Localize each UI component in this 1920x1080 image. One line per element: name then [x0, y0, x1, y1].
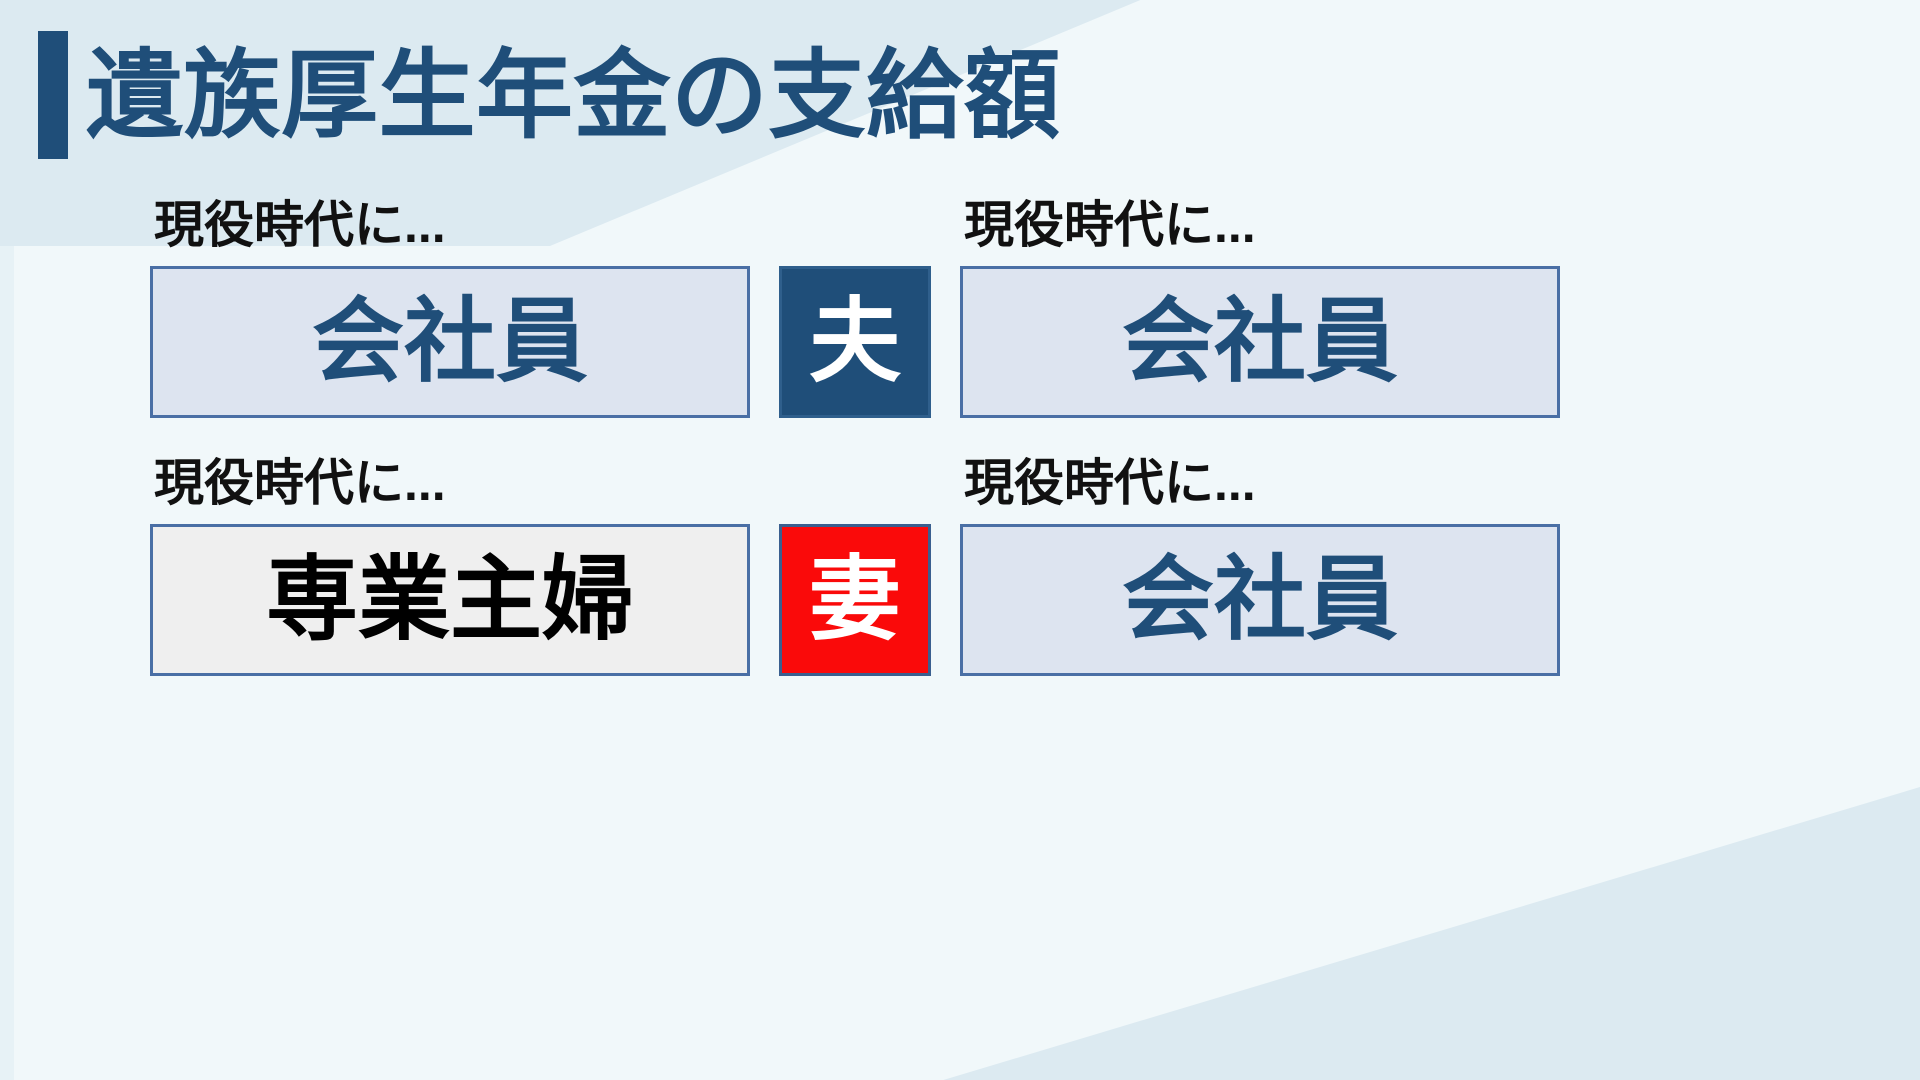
wife-badge[interactable]: 妻	[779, 524, 931, 676]
husband-left-status-box[interactable]: 会社員	[150, 266, 750, 418]
husband-right-status-text: 会社員	[1122, 296, 1398, 388]
husband-badge-label: 夫	[809, 296, 901, 388]
wife-right-status-text: 会社員	[1122, 554, 1398, 646]
slide-title-row: 遺族厚生年金の支給額	[38, 30, 1061, 160]
matrix-row-wife: 現役時代に... 専業主婦 妻 現役時代に... 会社員	[150, 458, 1650, 676]
wife-left-status-text: 専業主婦	[266, 554, 634, 646]
wife-right-column: 現役時代に... 会社員	[960, 458, 1560, 676]
husband-left-status-text: 会社員	[312, 296, 588, 388]
husband-right-column: 現役時代に... 会社員	[960, 200, 1560, 418]
wife-right-label: 現役時代に...	[960, 458, 1560, 508]
wife-left-label: 現役時代に...	[150, 458, 750, 508]
title-accent-bar	[38, 31, 68, 159]
matrix-row-husband: 現役時代に... 会社員 夫 現役時代に... 会社員	[150, 200, 1650, 418]
husband-right-label: 現役時代に...	[960, 200, 1560, 250]
husband-left-label: 現役時代に...	[150, 200, 750, 250]
page-title: 遺族厚生年金の支給額	[86, 47, 1061, 144]
husband-right-status-box[interactable]: 会社員	[960, 266, 1560, 418]
wife-badge-slot: 妻	[750, 524, 960, 676]
comparison-matrix: 現役時代に... 会社員 夫 現役時代に... 会社員 現役時代に...	[150, 200, 1650, 714]
husband-badge[interactable]: 夫	[779, 266, 931, 418]
husband-left-column: 現役時代に... 会社員	[150, 200, 750, 418]
background-left-edge	[0, 0, 14, 1080]
wife-left-column: 現役時代に... 専業主婦	[150, 458, 750, 676]
wife-right-status-box[interactable]: 会社員	[960, 524, 1560, 676]
slide-canvas: 遺族厚生年金の支給額 現役時代に... 会社員 夫 現役時代に... 会社員	[0, 0, 1920, 1080]
wife-left-status-box[interactable]: 専業主婦	[150, 524, 750, 676]
background-wedge-bottom-right	[930, 664, 1920, 1080]
wife-badge-label: 妻	[809, 554, 901, 646]
husband-badge-slot: 夫	[750, 266, 960, 418]
